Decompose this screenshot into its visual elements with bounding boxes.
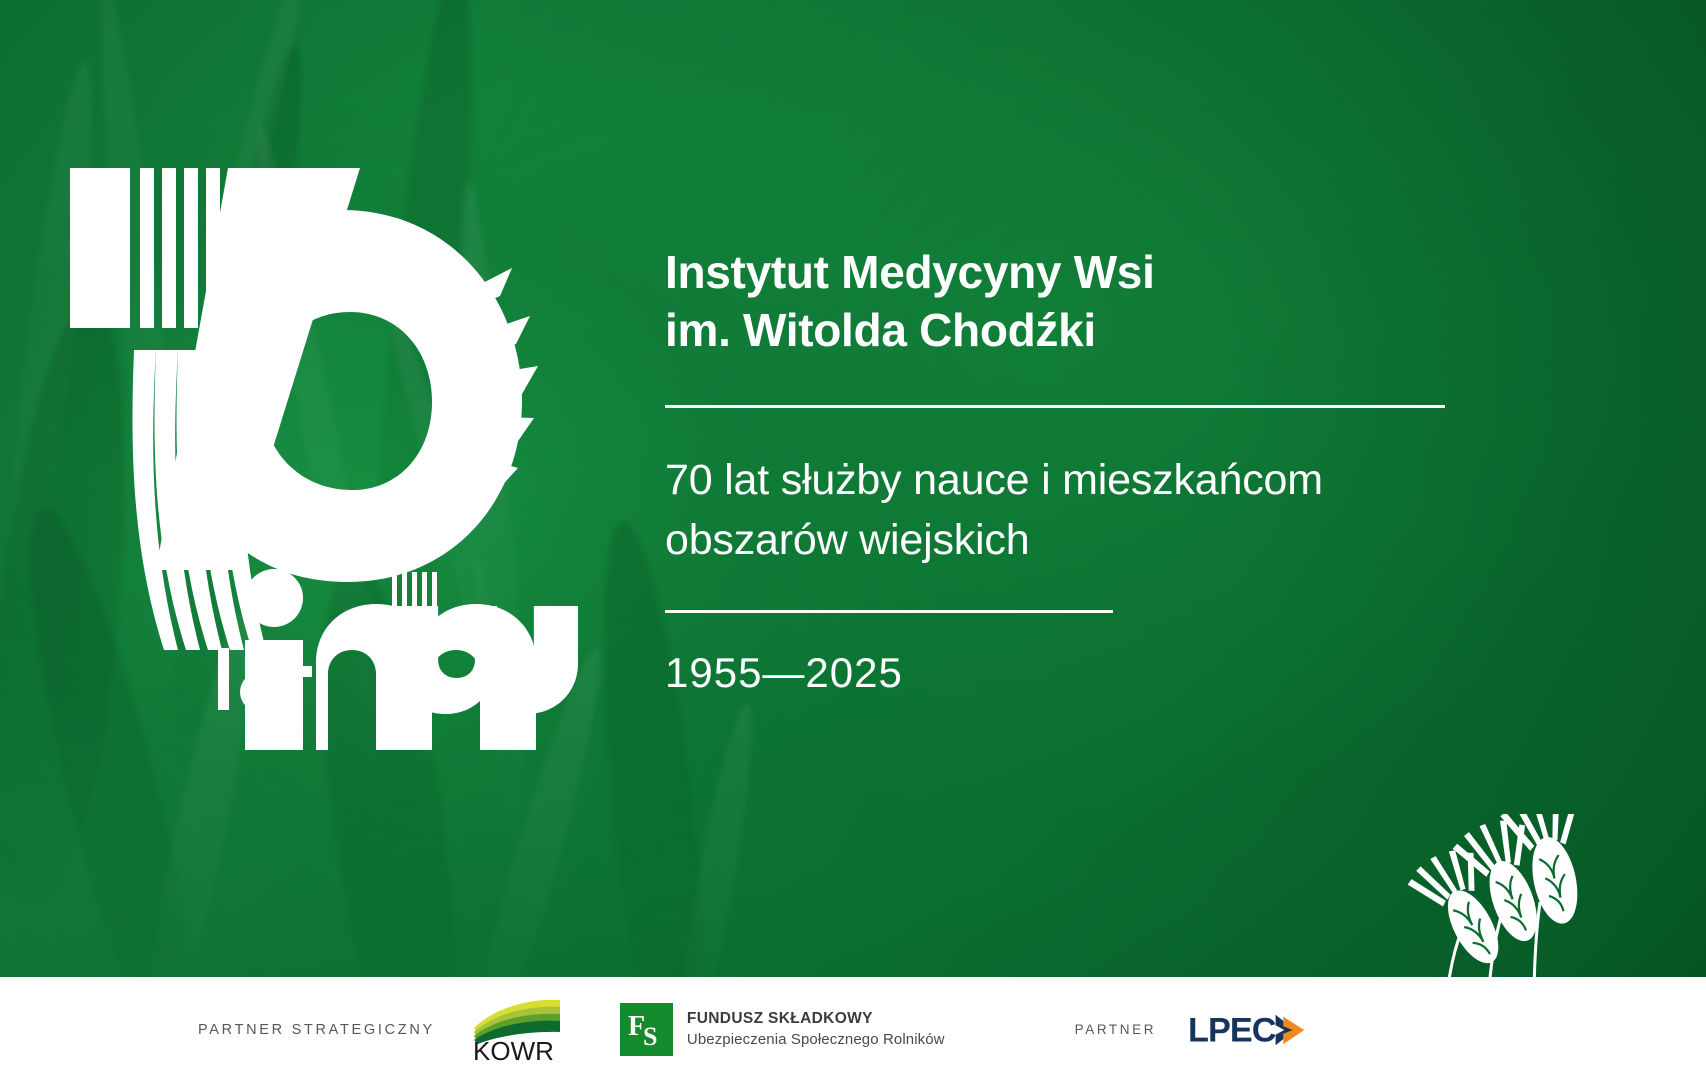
svg-text:KOWR: KOWR: [473, 1036, 554, 1062]
promotional-slide: Instytut Medycyny Wsi im. Witolda Chodźk…: [0, 0, 1706, 1082]
tagline-line-1: 70 lat służby nauce i mieszkańcom: [665, 450, 1455, 510]
institute-title-line-2: im. Witolda Chodźki: [665, 301, 1455, 359]
70-lat-imw-logo: [60, 150, 580, 750]
main-content: Instytut Medycyny Wsi im. Witolda Chodźk…: [665, 243, 1455, 697]
strategic-partner-label: PARTNER STRATEGICZNY: [198, 1022, 435, 1038]
institute-title-line-1: Instytut Medycyny Wsi: [665, 243, 1455, 301]
divider-bottom: [665, 610, 1113, 613]
institute-title: Instytut Medycyny Wsi im. Witolda Chodźk…: [665, 243, 1455, 360]
wheat-ears-decoration: [1338, 814, 1598, 1004]
tagline: 70 lat służby nauce i mieszkańcom obszar…: [665, 450, 1455, 570]
partners-footer: PARTNER STRATEGICZNY KOWR F S: [0, 977, 1706, 1082]
kowr-logo[interactable]: KOWR: [472, 998, 562, 1062]
fundusz-subtitle: Ubezpieczenia Społecznego Rolników: [687, 1030, 945, 1050]
fundusz-title: FUNDUSZ SKŁADKOWY: [687, 1009, 945, 1028]
fundusz-skladkowy-logo[interactable]: F S FUNDUSZ SKŁADKOWY Ubezpieczenia Społ…: [620, 1003, 945, 1056]
lpec-logo[interactable]: LPEC: [1188, 1010, 1331, 1050]
divider-top: [665, 405, 1445, 408]
svg-text:LPEC: LPEC: [1188, 1011, 1276, 1049]
year-range: 1955—2025: [665, 649, 1455, 697]
fs-monogram-icon: F S: [620, 1003, 673, 1056]
svg-text:S: S: [643, 1022, 657, 1051]
partner-label: PARTNER: [1075, 1022, 1156, 1037]
tagline-line-2: obszarów wiejskich: [665, 510, 1455, 570]
